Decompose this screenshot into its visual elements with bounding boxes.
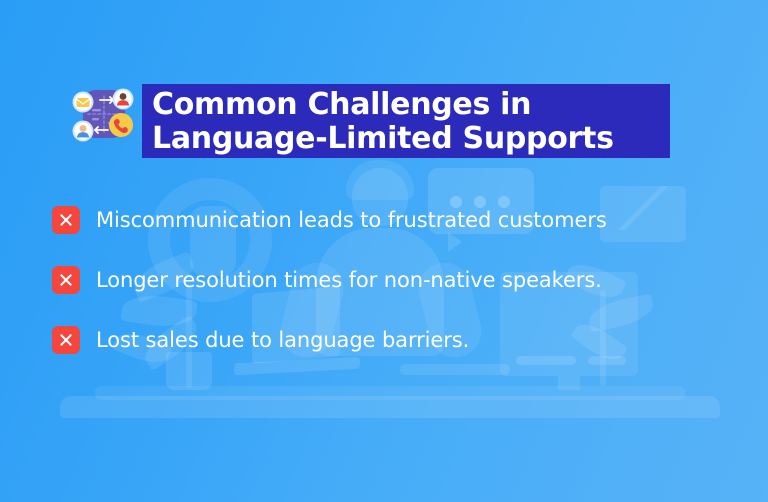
list-item: Miscommunication leads to frustrated cus…	[52, 190, 752, 250]
x-mark-icon	[52, 326, 80, 354]
list-item: Longer resolution times for non-native s…	[52, 250, 752, 310]
page-title-line-2: Language-Limited Supports	[152, 122, 660, 156]
list-item: Lost sales due to language barriers.	[52, 310, 752, 370]
watermark-desk-edge	[95, 386, 685, 400]
x-mark-icon	[52, 206, 80, 234]
communication-flow-icon	[70, 78, 136, 150]
list-item-label: Lost sales due to language barriers.	[96, 328, 469, 352]
title-banner: Common Challenges in Language-Limited Su…	[142, 84, 670, 158]
page-title-line-1: Common Challenges in	[152, 88, 660, 122]
x-mark-icon	[52, 266, 80, 294]
watermark-monitor-stand	[558, 376, 580, 390]
list-item-label: Miscommunication leads to frustrated cus…	[96, 208, 607, 232]
challenges-list: Miscommunication leads to frustrated cus…	[52, 190, 752, 370]
slide-canvas: Common Challenges in Language-Limited Su…	[0, 0, 768, 502]
watermark-desk-surface	[60, 396, 720, 418]
header-row	[70, 78, 144, 150]
list-item-label: Longer resolution times for non-native s…	[96, 268, 602, 292]
